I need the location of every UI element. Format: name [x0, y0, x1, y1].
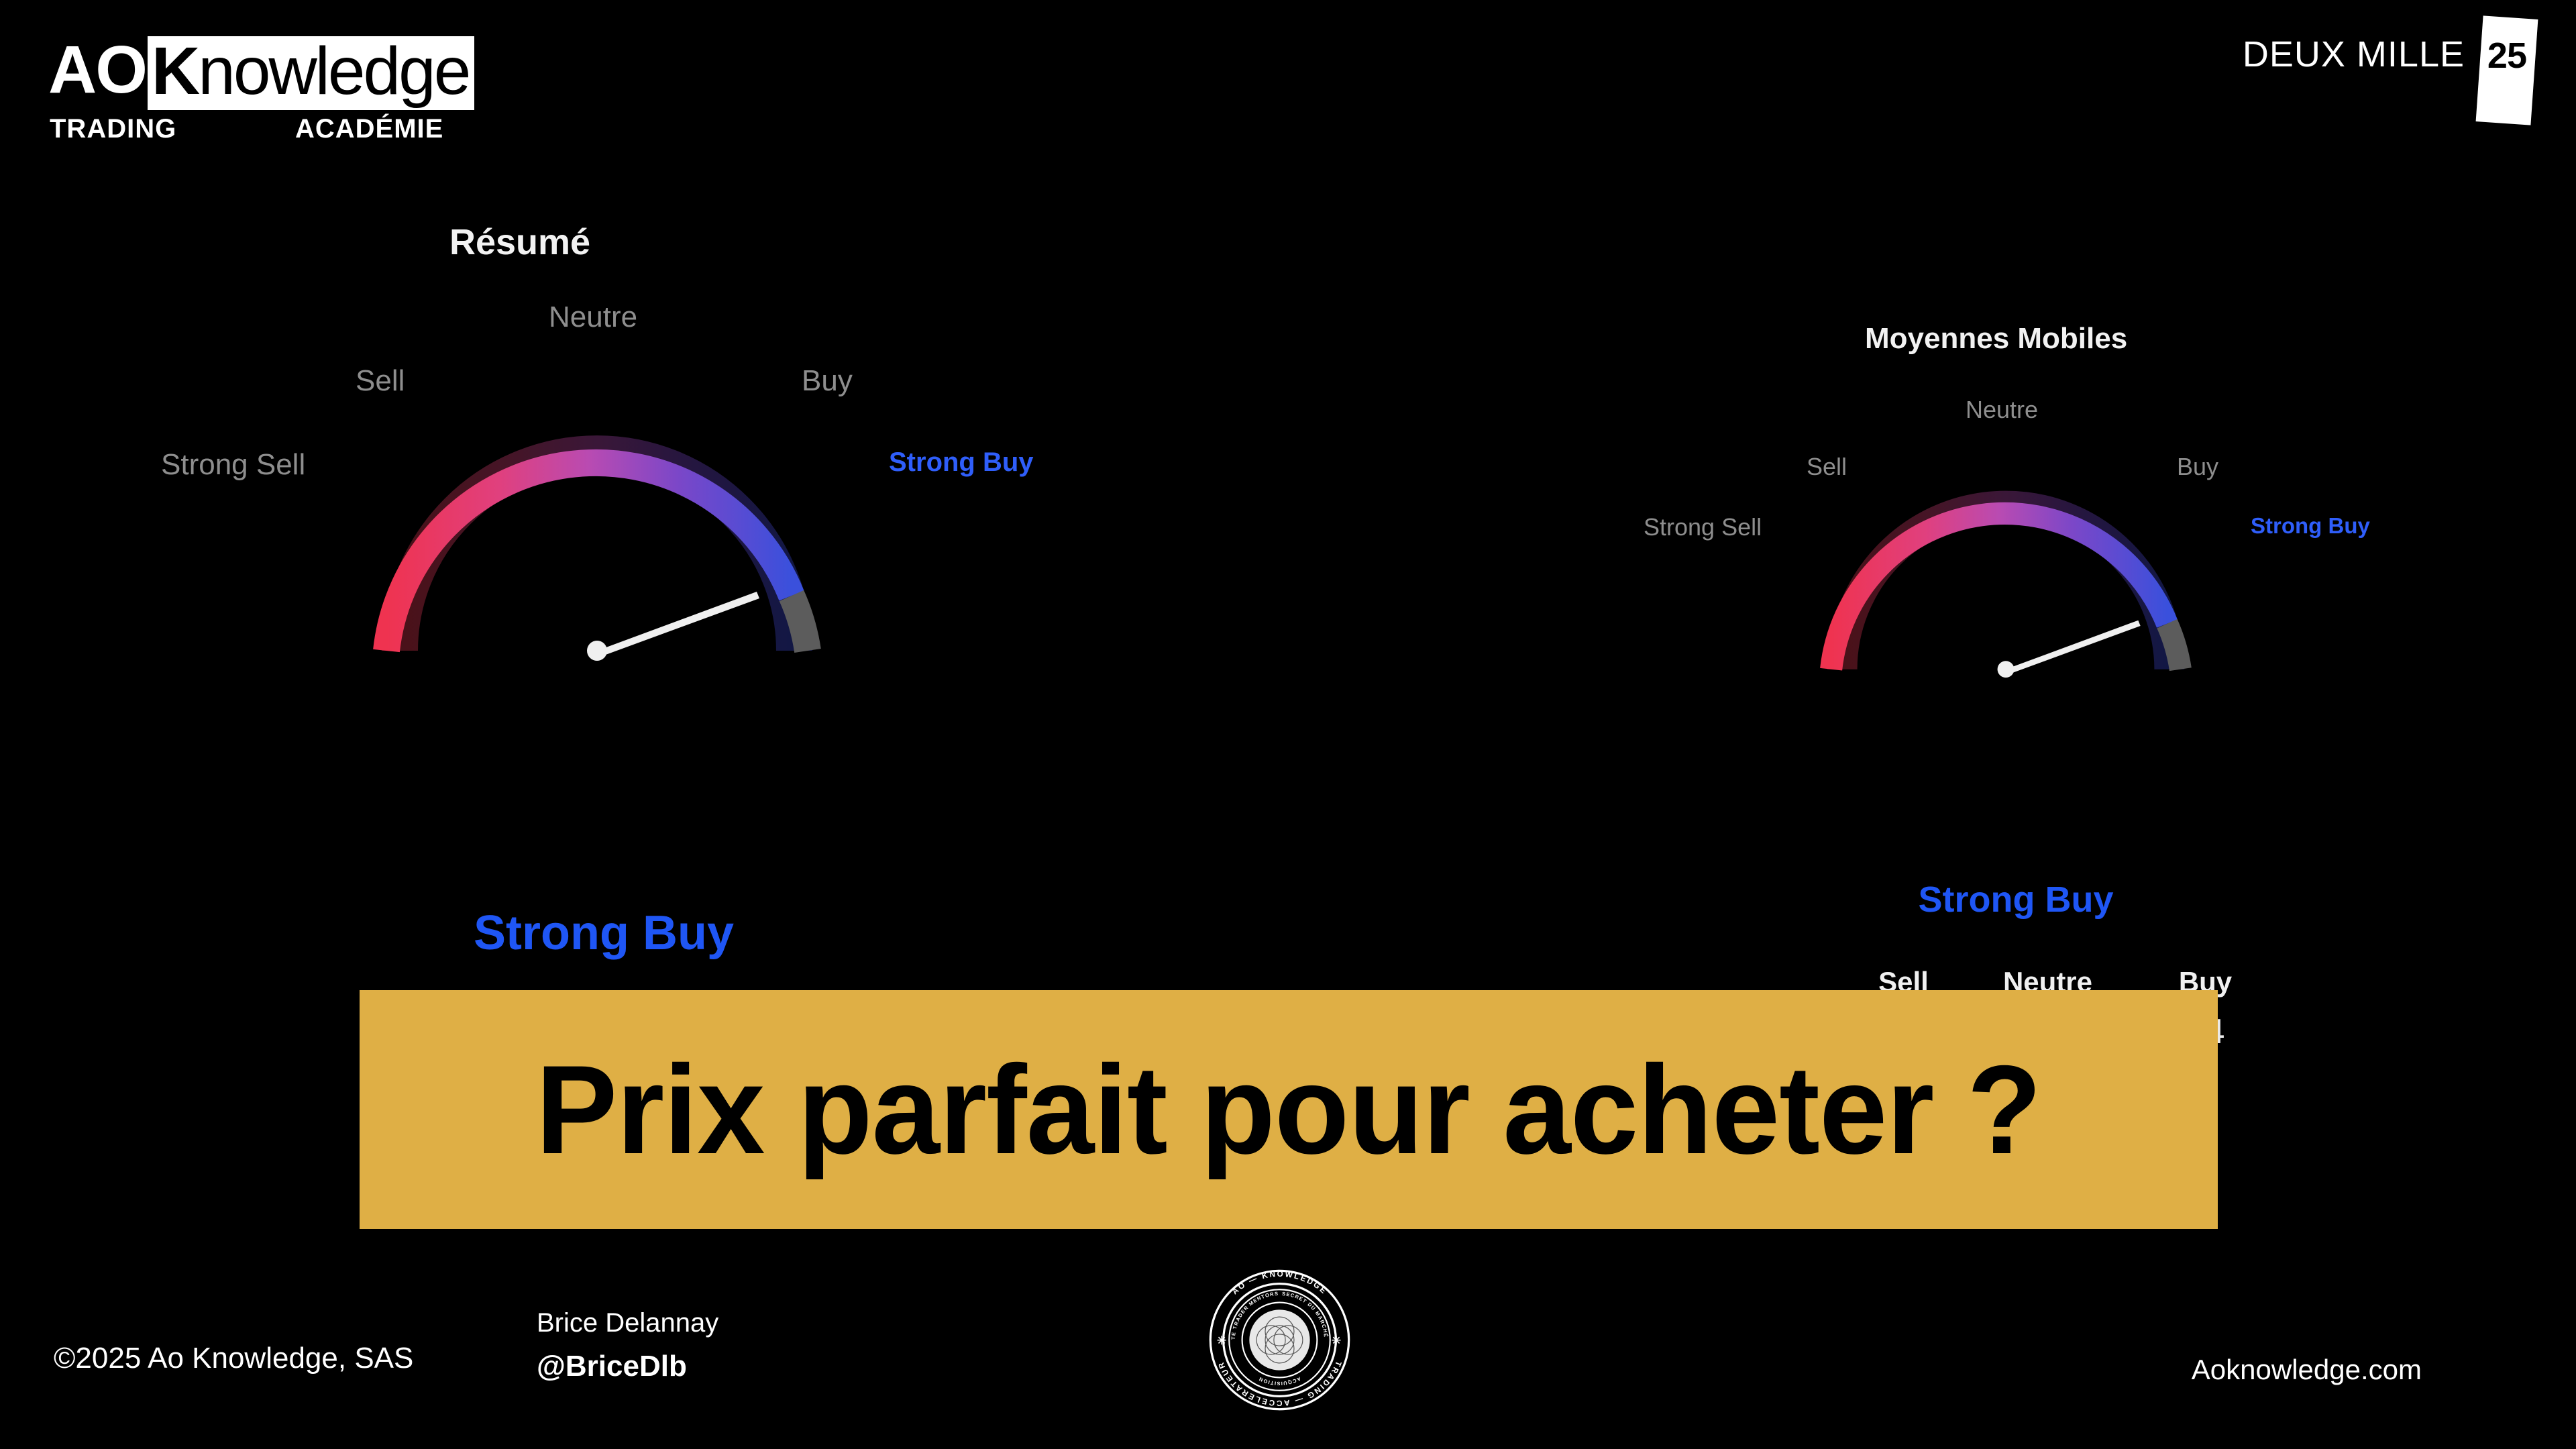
gauge-label-strong-buy: Strong Buy: [2251, 513, 2370, 539]
footer-author-name: Brice Delannay: [537, 1308, 718, 1338]
gauge-label-strong-sell: Strong Sell: [1644, 513, 1762, 541]
brand-wordmark: AO Knowledge: [48, 32, 491, 111]
gauge-needle-resume: [587, 592, 759, 661]
gauge-label-buy: Buy: [802, 364, 853, 398]
gauge-svg-resume: [322, 356, 872, 731]
gauge-arc-tail-gray: [792, 596, 808, 651]
gauge-label-buy: Buy: [2177, 453, 2218, 481]
brand-highlight-rest: nowledge: [198, 34, 469, 109]
gauge-label-strong-buy: Strong Buy: [889, 447, 1034, 478]
year-badge-word: DEUX MILLE: [2243, 34, 2465, 75]
headline-text: Prix parfait pour acheter ?: [536, 1046, 2041, 1173]
gauge-label-sell: Sell: [1807, 453, 1847, 481]
brand-prefix: AO: [48, 36, 146, 103]
seal-svg: AO — KNOWLEDGE TRADING — ACCELERATEUR EL…: [1207, 1268, 1352, 1412]
gauge-panel-resume: Résumé: [161, 221, 1100, 946]
brand-highlight-initial: K: [152, 34, 198, 109]
gauge-dial-resume: [322, 356, 872, 735]
gauge-verdict-resume: Strong Buy: [474, 906, 734, 961]
flower-of-life-icon: [1249, 1309, 1309, 1370]
gauge-panel-moyennes-mobiles: Moyennes Mobiles: [1644, 322, 2449, 926]
headline-banner: Prix parfait pour acheter ?: [360, 990, 2218, 1229]
brand-sub-left: TRADING: [50, 114, 176, 144]
gauge-verdict-moyennes-mobiles: Strong Buy: [1919, 879, 2114, 920]
brand-highlight-box: Knowledge: [148, 36, 474, 110]
svg-text:✳: ✳: [1217, 1334, 1226, 1347]
gauge-arc-shadow: [400, 453, 794, 651]
gauge-label-sell: Sell: [356, 364, 405, 398]
brand-sub-right: ACADÉMIE: [295, 114, 443, 144]
gauge-label-neutre: Neutre: [1966, 396, 2038, 424]
gauge-needle-moyennes-mobiles: [1998, 621, 2141, 678]
footer-copyright: ©2025 Ao Knowledge, SAS: [54, 1342, 413, 1375]
gauge-label-neutre: Neutre: [549, 301, 637, 334]
gauge-title-resume: Résumé: [449, 221, 590, 263]
year-badge-number: 25: [2487, 35, 2526, 76]
svg-text:✳: ✳: [1332, 1334, 1341, 1347]
brand-knowledge-word: Knowledge: [152, 34, 469, 109]
gauge-arc-tail-gray: [2167, 624, 2180, 669]
gauge-title-moyennes-mobiles: Moyennes Mobiles: [1865, 322, 2127, 356]
gauge-arc-shadow: [1842, 506, 2169, 669]
brand-subline: TRADING ACADÉMIE: [48, 114, 491, 145]
footer-website[interactable]: Aoknowledge.com: [2192, 1354, 2422, 1386]
footer-author-handle[interactable]: @BriceDlb: [537, 1350, 687, 1383]
gauge-label-strong-sell: Strong Sell: [161, 448, 305, 482]
circular-seal-logo: AO — KNOWLEDGE TRADING — ACCELERATEUR EL…: [1207, 1268, 1352, 1412]
brand-logo: AO Knowledge TRADING ACADÉMIE: [48, 32, 491, 146]
